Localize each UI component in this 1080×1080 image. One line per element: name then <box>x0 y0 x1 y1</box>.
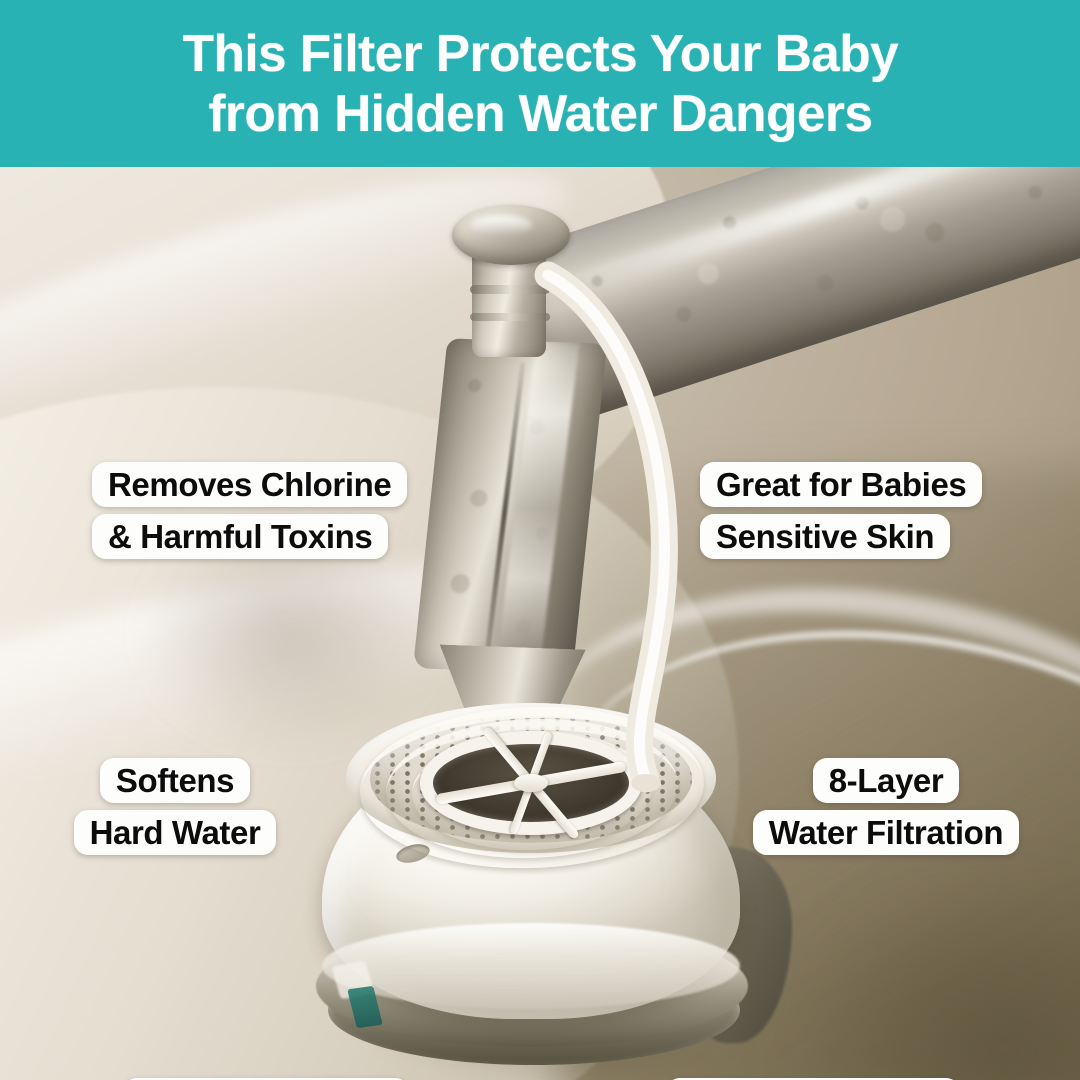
feature-label-line-2: & Harmful Toxins <box>92 514 388 559</box>
feature-label-great-for-babies: Great for Babies Sensitive Skin <box>700 459 1000 563</box>
feature-label-line-2: Hard Water <box>74 810 277 855</box>
feature-label-line-2: Water Filtration <box>753 810 1019 855</box>
feature-label-line-1: Great for Babies <box>700 462 982 507</box>
product-photo: Removes Chlorine & Harmful Toxins Great … <box>0 167 1080 1080</box>
feature-label-line-1: Removes Chlorine <box>92 462 407 507</box>
header-banner: This Filter Protects Your Baby from Hidd… <box>0 0 1080 167</box>
promo-graphic: This Filter Protects Your Baby from Hidd… <box>0 0 1080 1080</box>
feature-label-softens-hard-water: Softens Hard Water <box>70 755 280 859</box>
feature-label-removes-chlorine: Removes Chlorine & Harmful Toxins <box>92 459 422 563</box>
banner-title-line-2: from Hidden Water Dangers <box>182 84 897 144</box>
banner-title-line-1: This Filter Protects Your Baby <box>182 24 897 84</box>
feature-label-line-1: Softens <box>100 758 250 803</box>
feature-label-keeps-bathwater-clean: Keeps Bathwater Visibly Cleaner <box>660 1075 966 1080</box>
hose-end-cap <box>631 774 661 792</box>
feature-label-ideal-for-eczema: Ideal for Eczema and Dermatitis <box>116 1075 416 1080</box>
feature-label-eight-layer-filtration: 8-Layer Water Filtration <box>752 755 1020 859</box>
filter-hose <box>0 167 1080 1080</box>
feature-label-line-1: 8-Layer <box>813 758 960 803</box>
feature-label-line-2: Sensitive Skin <box>700 514 950 559</box>
banner-title: This Filter Protects Your Baby from Hidd… <box>153 24 928 144</box>
